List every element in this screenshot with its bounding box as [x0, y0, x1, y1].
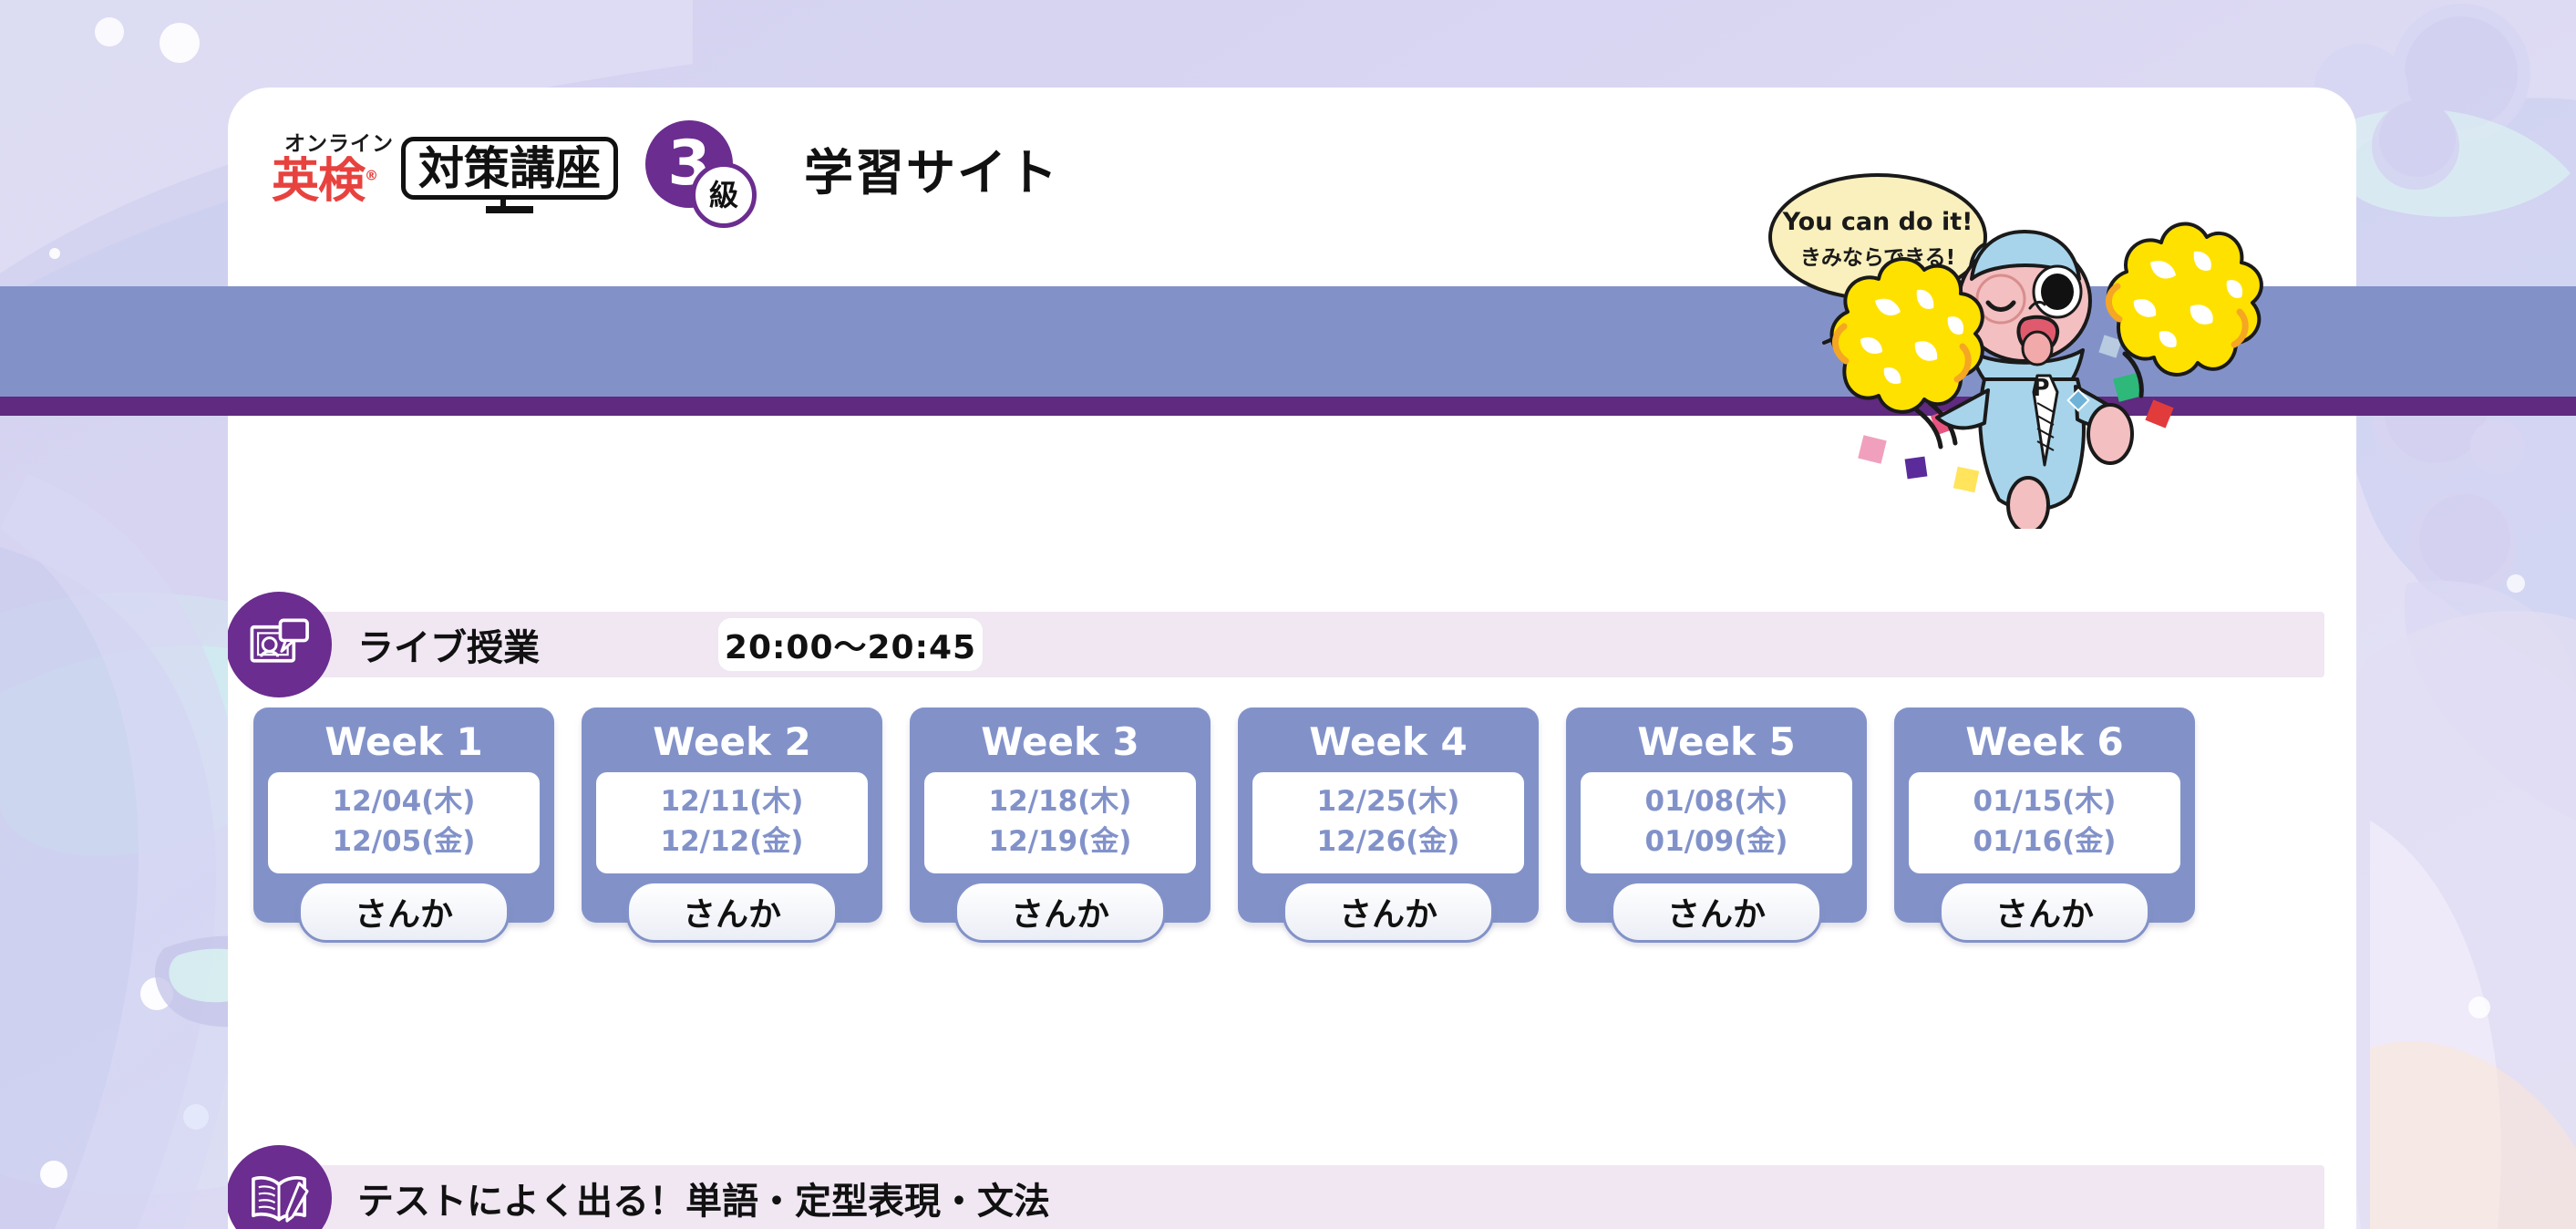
week-date-2: 01/09(金)	[1581, 821, 1852, 862]
eiken-logo[interactable]: オンライン 英検® 対策講座 3 級 学習サイト	[272, 120, 1059, 215]
grade-badge: 3 級	[645, 120, 744, 215]
week-dates: 12/25(木) 12/26(金)	[1252, 772, 1524, 874]
grade-suffix-circle: 級	[691, 162, 757, 228]
week-dates: 01/08(木) 01/09(金)	[1581, 772, 1852, 874]
week-date-2: 01/16(金)	[1909, 821, 2180, 862]
join-button[interactable]: さんか	[954, 881, 1166, 943]
join-button-label: さんか	[355, 888, 453, 935]
week-card[interactable]: Week 3 12/18(木) 12/19(金) さんか	[910, 707, 1211, 923]
join-button[interactable]: さんか	[1939, 881, 2150, 943]
live-class-icon	[228, 592, 332, 697]
cheerleader-mascot: You can do it! きみならできる!	[1736, 164, 2265, 529]
week-card[interactable]: Week 4 12/25(木) 12/26(金) さんか	[1238, 707, 1539, 923]
week-card[interactable]: Week 5 01/08(木) 01/09(金) さんか	[1566, 707, 1867, 923]
speech-line-1: You can do it!	[1782, 208, 1973, 236]
join-button[interactable]: さんか	[626, 881, 838, 943]
open-book-pencil-glyph	[245, 1164, 313, 1229]
pompom-left	[1831, 259, 1982, 412]
mascot-illustration: You can do it! きみならできる!	[1736, 164, 2265, 529]
section-header-vocab-grammar: テストによく出る！単語・定型表現・文法	[253, 1165, 2324, 1229]
week-title: Week 4	[1252, 715, 1524, 772]
open-book-pencil-icon	[228, 1145, 332, 1229]
grade-suffix: 級	[709, 181, 738, 210]
page-title: 学習サイト	[804, 132, 1059, 204]
week-date-1: 01/15(木)	[1909, 781, 2180, 822]
week-dates: 12/11(木) 12/12(金)	[596, 772, 868, 874]
week-title: Week 3	[924, 715, 1196, 772]
week-dates: 01/15(木) 01/16(金)	[1909, 772, 2180, 874]
week-card-list: Week 1 12/04(木) 12/05(金) さんか Week 2 12/1…	[253, 707, 2195, 923]
join-button[interactable]: さんか	[298, 881, 510, 943]
course-badge-label: 対策講座	[418, 142, 601, 195]
join-button-label: さんか	[1995, 888, 2094, 935]
week-date-1: 12/04(木)	[268, 781, 540, 822]
join-button[interactable]: さんか	[1611, 881, 1822, 943]
week-title: Week 1	[268, 715, 540, 772]
tie-letter: P	[2032, 375, 2049, 402]
logo-eiken-text: 英検	[272, 154, 365, 209]
week-title: Week 5	[1581, 715, 1852, 772]
week-title: Week 2	[596, 715, 868, 772]
live-lesson-time: 20:00〜20:45	[725, 621, 976, 668]
join-button-label: さんか	[1011, 888, 1109, 935]
week-date-2: 12/05(金)	[268, 821, 540, 862]
week-card[interactable]: Week 1 12/04(木) 12/05(金) さんか	[253, 707, 554, 923]
week-date-1: 12/25(木)	[1252, 781, 1524, 822]
live-lesson-time-badge: 20:00〜20:45	[718, 618, 983, 671]
week-dates: 12/04(木) 12/05(金)	[268, 772, 540, 874]
week-date-2: 12/12(金)	[596, 821, 868, 862]
registered-mark-icon: ®	[365, 168, 377, 184]
week-card[interactable]: Week 2 12/11(木) 12/12(金) さんか	[582, 707, 882, 923]
section-title-live-lesson: ライブ授業	[357, 618, 540, 671]
week-date-1: 12/11(木)	[596, 781, 868, 822]
week-dates: 12/18(木) 12/19(金)	[924, 772, 1196, 874]
logo-eiken-label: 英検®	[272, 158, 377, 205]
week-date-2: 12/26(金)	[1252, 821, 1524, 862]
live-class-glyph	[245, 611, 313, 678]
course-badge: 対策講座	[401, 137, 618, 200]
section-title-vocab-grammar: テストによく出る！単語・定型表現・文法	[357, 1172, 1050, 1224]
join-button-label: さんか	[683, 888, 781, 935]
join-button-label: さんか	[1667, 888, 1766, 935]
week-card[interactable]: Week 6 01/15(木) 01/16(金) さんか	[1894, 707, 2195, 923]
pompom-right	[2108, 224, 2262, 375]
join-button-label: さんか	[1339, 888, 1437, 935]
week-date-1: 12/18(木)	[924, 781, 1196, 822]
logo-online-label: オンライン	[284, 134, 394, 155]
eiken-brand-mark: オンライン 英検®	[272, 130, 394, 205]
section-header-live-lesson: ライブ授業 20:00〜20:45	[253, 612, 2324, 677]
week-date-1: 01/08(木)	[1581, 781, 1852, 822]
week-date-2: 12/19(金)	[924, 821, 1196, 862]
week-title: Week 6	[1909, 715, 2180, 772]
join-button[interactable]: さんか	[1283, 881, 1494, 943]
